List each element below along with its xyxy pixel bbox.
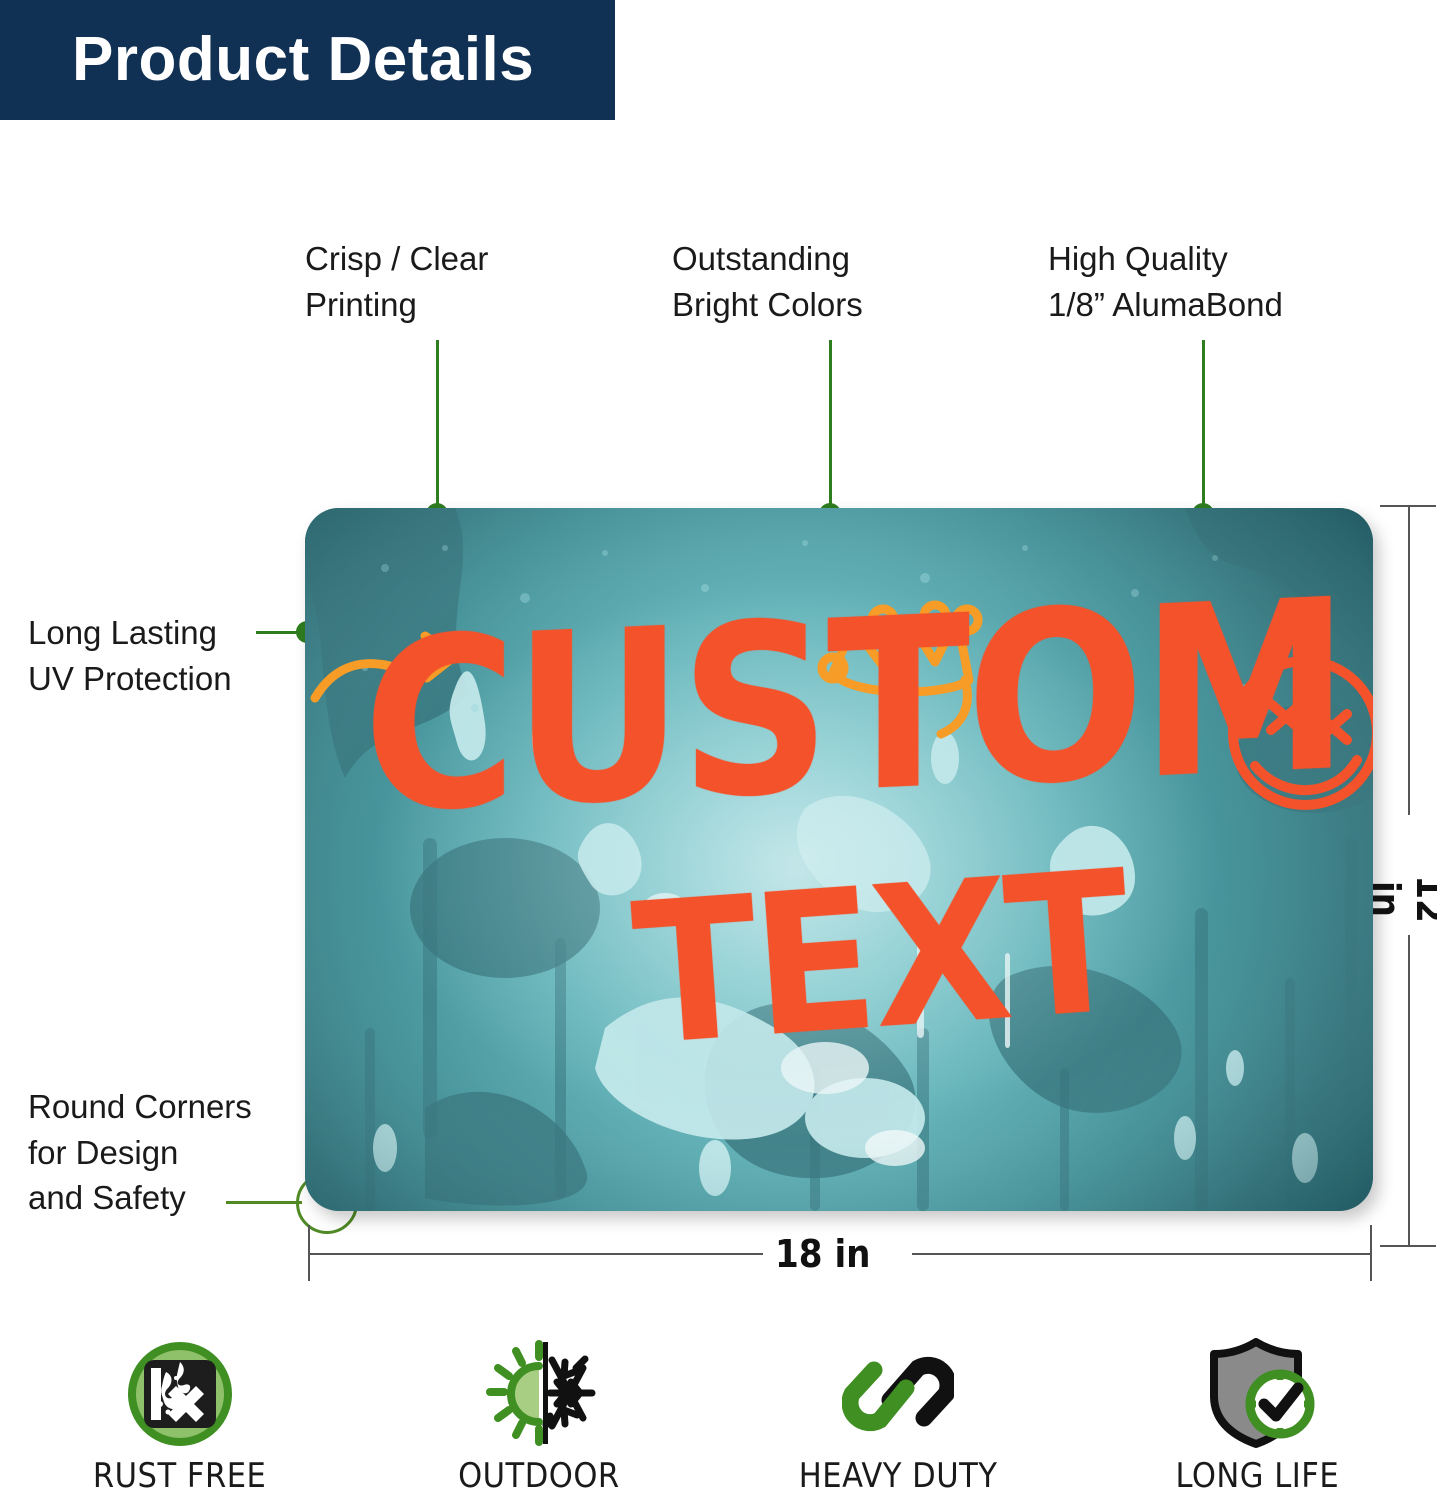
chain-link-icon: [842, 1338, 954, 1450]
shield-clock-check-icon: [1198, 1338, 1316, 1450]
feature-outdoor: OUTDOOR: [359, 1338, 718, 1496]
dim-tick-height-top: [1380, 505, 1436, 507]
product-details-infographic: Product Details Crisp / Clear Printing O…: [0, 0, 1437, 1500]
feature-label-outdoor: OUTDOOR: [458, 1456, 620, 1496]
dim-label-height: 12 in: [1364, 869, 1437, 929]
callout-high-quality-alumabond: High Quality 1/8” AlumaBond: [1048, 236, 1283, 327]
feature-label-heavy-duty: HEAVY DUTY: [799, 1456, 998, 1496]
leader-line-crisp: [436, 340, 439, 516]
callout-round-corners: Round Corners for Design and Safety: [28, 1084, 252, 1221]
sign-custom-text: CUSTOM TEXT: [305, 508, 1373, 1211]
leader-line-round-corners: [226, 1201, 302, 1204]
feature-long-life: LONG LIFE: [1078, 1338, 1437, 1496]
dim-tick-width-left: [308, 1225, 310, 1281]
sign-text-line1: CUSTOM: [363, 586, 1346, 829]
dim-line-height-top: [1408, 505, 1410, 815]
callout-outstanding-bright-colors: Outstanding Bright Colors: [672, 236, 863, 327]
sign-preview: CUSTOM TEXT: [305, 508, 1373, 1211]
feature-rust-free: RUST FREE: [0, 1338, 359, 1496]
header-banner: Product Details: [0, 0, 615, 120]
rust-free-icon: [124, 1338, 236, 1450]
leader-line-alumabond: [1202, 340, 1205, 516]
dim-line-height-bottom: [1408, 935, 1410, 1247]
dim-label-width: 18 in: [775, 1232, 871, 1276]
leader-line-bright: [829, 340, 832, 516]
page-title: Product Details: [0, 29, 534, 91]
dim-tick-width-right: [1370, 1225, 1372, 1281]
dim-line-width-left: [308, 1253, 763, 1255]
feature-label-long-life: LONG LIFE: [1176, 1456, 1340, 1496]
feature-badges: RUST FREE: [0, 1338, 1437, 1500]
feature-label-rust-free: RUST FREE: [93, 1456, 266, 1496]
dim-line-width-right: [912, 1253, 1372, 1255]
callout-crisp-clear-printing: Crisp / Clear Printing: [305, 236, 488, 327]
feature-heavy-duty: HEAVY DUTY: [719, 1338, 1078, 1496]
callout-long-lasting-uv-protection: Long Lasting UV Protection: [28, 610, 232, 701]
dim-tick-height-bottom: [1380, 1245, 1436, 1247]
sun-snowflake-icon: [480, 1338, 598, 1450]
sign-text-line2: TEXT: [629, 860, 1131, 1059]
